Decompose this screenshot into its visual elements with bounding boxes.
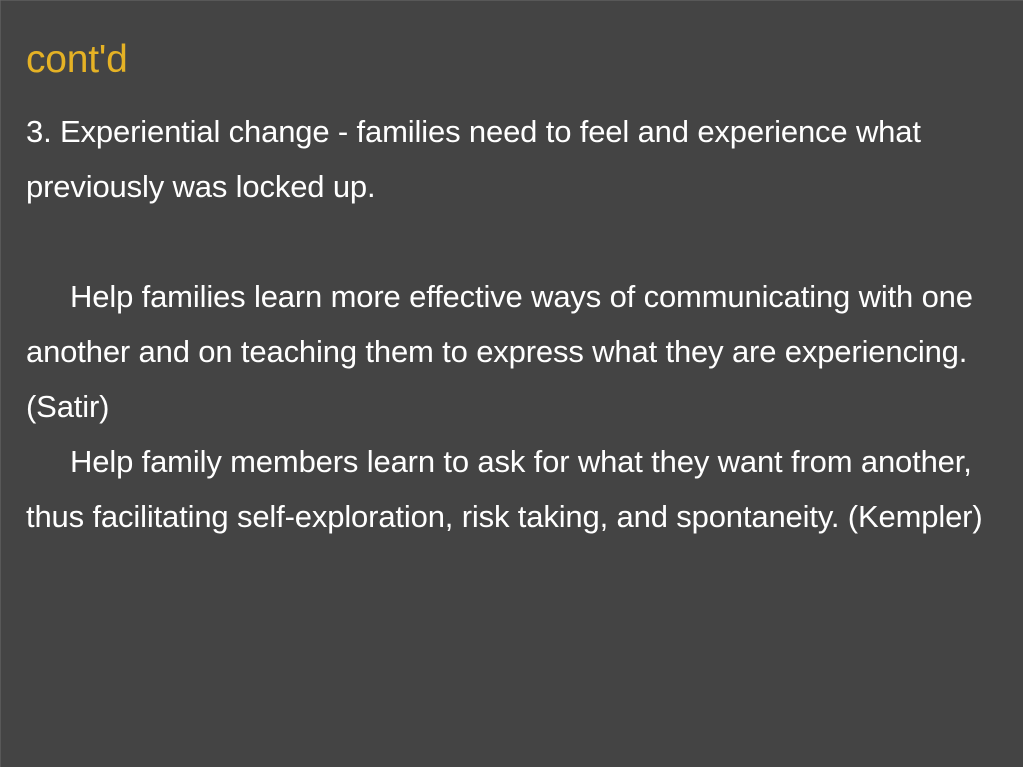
body-paragraph-help-family-members-kempler: Help family members learn to ask for wha… <box>26 434 986 544</box>
page-title: cont'd <box>26 37 128 83</box>
body-paragraph-point-3: 3. Experiential change - families need t… <box>26 104 986 214</box>
body-paragraph-help-families-satir: Help families learn more effective ways … <box>26 269 986 434</box>
paragraph-spacer <box>26 214 986 269</box>
slide-body-text: 3. Experiential change - families need t… <box>26 104 986 544</box>
slide-canvas: cont'd 3. Experiential change - families… <box>0 0 1023 767</box>
